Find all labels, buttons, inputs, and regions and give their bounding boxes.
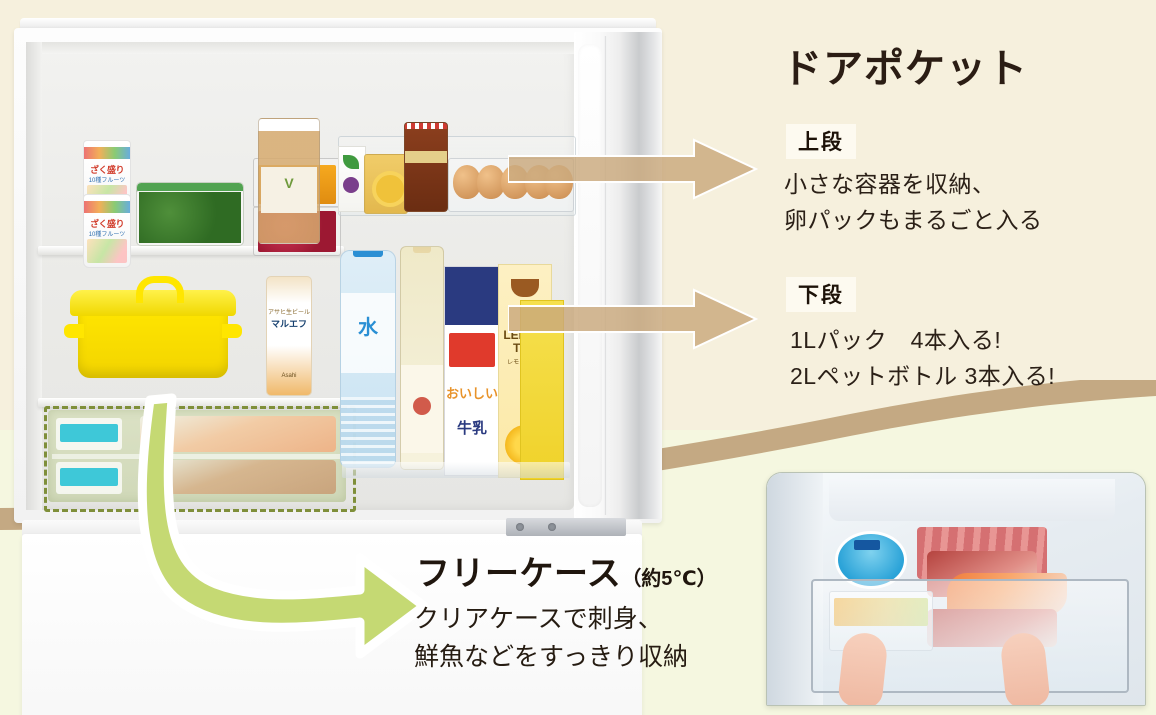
- beer-can-label: マルエフ: [267, 319, 311, 330]
- yogurt-cup: ざく盛り 10種フルーツ: [83, 194, 131, 268]
- milk-carton-badge: [449, 333, 495, 367]
- upper-desc-line-2: 卵パックもまるごと入る: [784, 202, 1043, 238]
- jam-jar-cap: [404, 122, 448, 129]
- free-case-desc-line-2: 鮮魚などをすっきり収納: [414, 638, 688, 676]
- page-title: ドアポケット: [782, 36, 1028, 94]
- container-lid: [137, 183, 243, 191]
- infographic-root: ざく盛り 10種フルーツ ざく盛り 10種フルーツ V アサヒ生ビール: [0, 0, 1156, 715]
- broccoli-content: [139, 192, 241, 243]
- cup-fruit-art: [87, 239, 127, 263]
- broccoli-container: [136, 182, 244, 246]
- lower-desc-line-2: 2Lペットボトル 3本入る!: [790, 358, 1055, 394]
- lower-section-tag: 下段: [786, 277, 856, 312]
- lemon-slice: [372, 171, 408, 207]
- free-case-temperature-note: （約5℃）: [621, 568, 716, 590]
- lower-desc-line-1: 1Lパック 4本入る!: [790, 322, 1055, 358]
- yogurt-cup-sublabel: 10種フルーツ: [84, 175, 130, 184]
- upper-section-tag: 上段: [786, 124, 856, 159]
- tub-label-strip: [854, 540, 880, 550]
- cavity-left-wall: [26, 42, 42, 510]
- spacer: [136, 190, 138, 192]
- cup-color-band: [84, 147, 130, 159]
- pot-handle-right: [222, 324, 242, 338]
- yellow-pot-knob: [136, 276, 184, 303]
- water-bottle-label: 水: [341, 311, 395, 340]
- pot-handle-left: [64, 324, 84, 338]
- door-inner-panel: [578, 44, 602, 507]
- beer-can: アサヒ生ビール マルエフ Asahi: [266, 276, 312, 396]
- plum-graphic: [343, 177, 359, 193]
- yogurt-cup-sublabel: 10種フルーツ: [84, 229, 130, 238]
- milk-carton-label2: 牛乳: [445, 417, 499, 438]
- free-case-description: クリアケースで刺身、 鮮魚などをすっきり収納: [414, 600, 688, 676]
- leaf-icon: [343, 155, 359, 169]
- door-seam: [604, 36, 607, 515]
- cavity-ceiling: [26, 42, 574, 54]
- arrow-to-upper-pocket: [508, 138, 758, 200]
- free-case-title-text: フリーケース: [416, 555, 621, 593]
- green-pack: [338, 146, 366, 212]
- door-hinge: [506, 518, 626, 536]
- inset-top-panel: [829, 479, 1115, 521]
- arrow-to-lower-pocket: [508, 288, 758, 350]
- free-case-desc-line-1: クリアケースで刺身、: [414, 600, 688, 638]
- asparagus-jar: V: [258, 118, 320, 244]
- jam-jar: [404, 122, 448, 212]
- arrow-to-free-case: [120, 392, 430, 692]
- cup-color-band: [84, 201, 130, 213]
- beer-can-sublabel: アサヒ生ビール: [267, 307, 311, 316]
- jam-jar-label: [405, 151, 447, 163]
- milk-carton: おいしい 牛乳: [444, 266, 500, 476]
- bottle-cap: [353, 250, 383, 257]
- bottle-neck: [413, 246, 431, 253]
- lower-section-description: 1Lパック 4本入る! 2Lペットボトル 3本入る!: [790, 322, 1055, 394]
- upper-section-description: 小さな容器を収納、 卵パックもまるごと入る: [784, 166, 1043, 238]
- inset-photo-free-case: [766, 472, 1146, 706]
- beer-can-brand: Asahi: [267, 373, 311, 379]
- milk-carton-label: おいしい: [445, 387, 499, 401]
- asparagus-brand-mark: V: [284, 175, 293, 191]
- upper-desc-line-1: 小さな容器を収納、: [784, 166, 1043, 202]
- free-case-title: フリーケース（約5℃）: [416, 546, 717, 595]
- lemon-jar: [364, 154, 408, 214]
- yellow-pot: [78, 306, 228, 378]
